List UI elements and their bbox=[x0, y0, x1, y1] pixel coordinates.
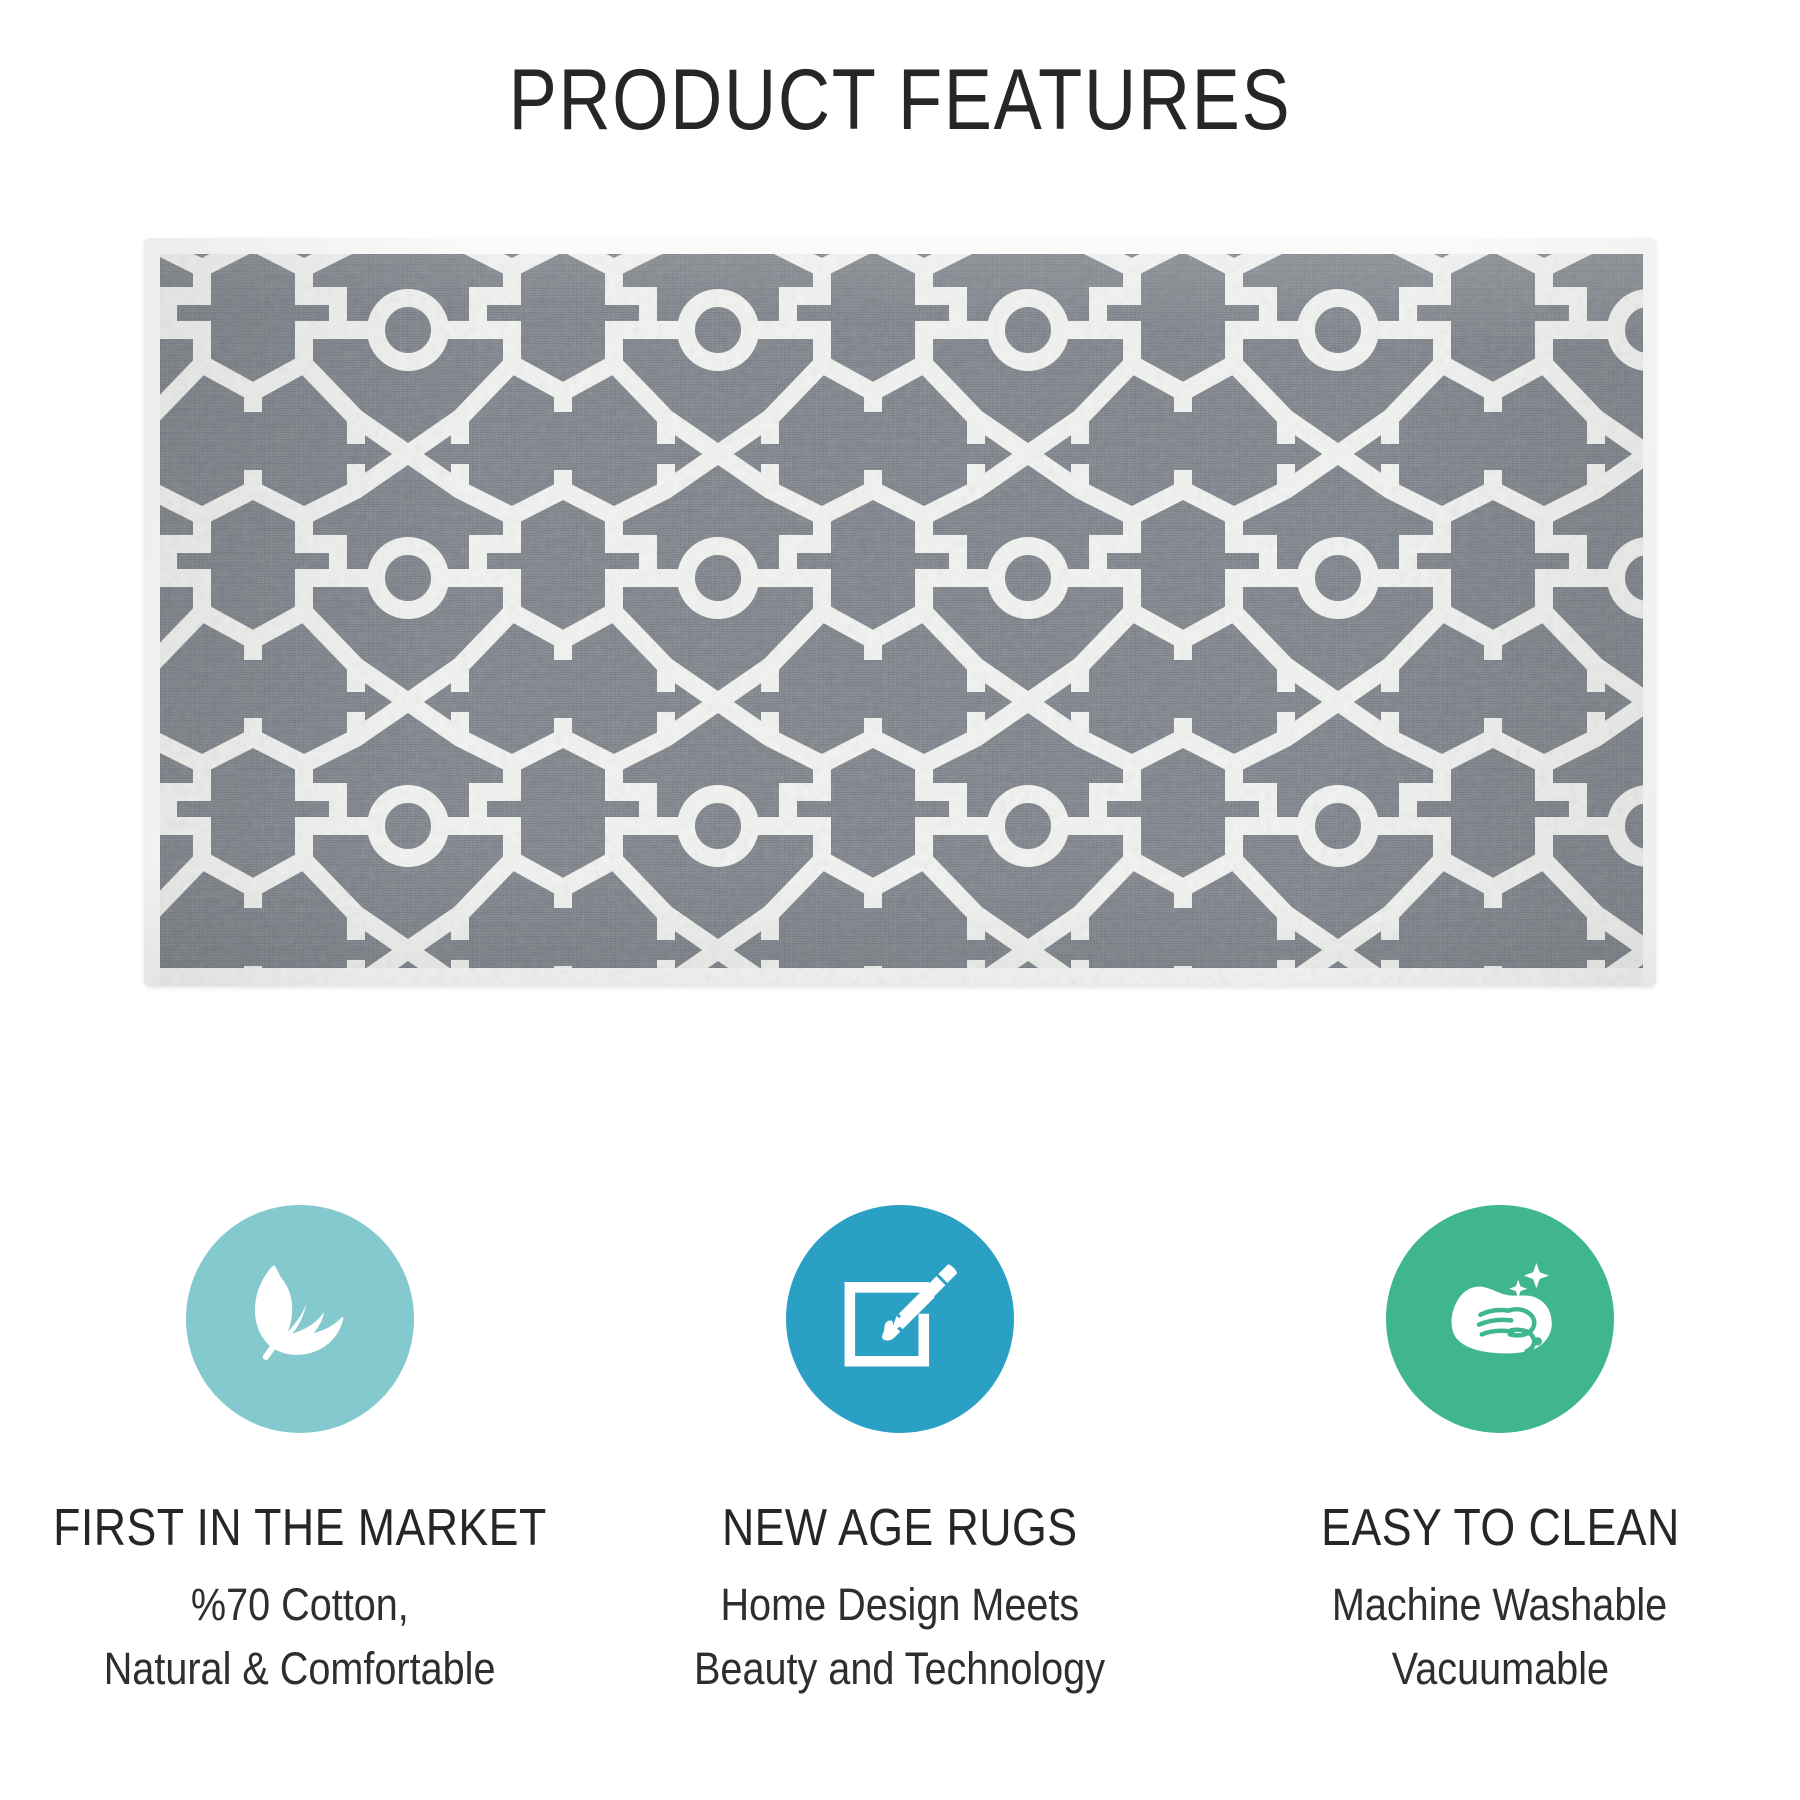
hand-wiping-cloth-sparkle-icon bbox=[1430, 1249, 1570, 1389]
rug-pattern-field bbox=[160, 254, 1643, 968]
feature-subtitle-2-line2: Beauty and Technology bbox=[695, 1637, 1106, 1701]
page-title: PRODUCT FEATURES bbox=[144, 52, 1656, 148]
feather-icon bbox=[231, 1250, 369, 1388]
feature-subtitle-3-line2: Vacuumable bbox=[1391, 1637, 1608, 1701]
feature-item-new-age-rugs: NEW AGE RUGS Home Design Meets Beauty an… bbox=[600, 1205, 1200, 1701]
design-artboard-pen-brush-icon bbox=[834, 1253, 966, 1385]
feature-item-first-in-the-market: FIRST IN THE MARKET %70 Cotton, Natural … bbox=[0, 1205, 600, 1701]
feature-icon-circle-1 bbox=[186, 1205, 414, 1433]
feature-subtitle-1-line2: Natural & Comfortable bbox=[104, 1637, 496, 1701]
feature-icon-circle-3 bbox=[1386, 1205, 1614, 1433]
feature-item-easy-to-clean: EASY TO CLEAN Machine Washable Vacuumabl… bbox=[1200, 1205, 1800, 1701]
feature-subtitle-1-line1: %70 Cotton, bbox=[191, 1573, 409, 1637]
feature-title-1: FIRST IN THE MARKET bbox=[53, 1499, 547, 1557]
rug-body bbox=[144, 238, 1656, 986]
product-features-page: PRODUCT FEATURES bbox=[0, 0, 1800, 1800]
feature-subtitle-2-line1: Home Design Meets bbox=[721, 1573, 1080, 1637]
feature-title-3: EASY TO CLEAN bbox=[1321, 1499, 1680, 1557]
feature-subtitle-3-line1: Machine Washable bbox=[1332, 1573, 1667, 1637]
feature-list: FIRST IN THE MARKET %70 Cotton, Natural … bbox=[0, 1205, 1800, 1701]
feature-icon-circle-2 bbox=[786, 1205, 1014, 1433]
product-image-rug bbox=[144, 238, 1656, 986]
rug-trellis-pattern-svg bbox=[160, 254, 1643, 968]
feature-title-2: NEW AGE RUGS bbox=[722, 1499, 1078, 1557]
